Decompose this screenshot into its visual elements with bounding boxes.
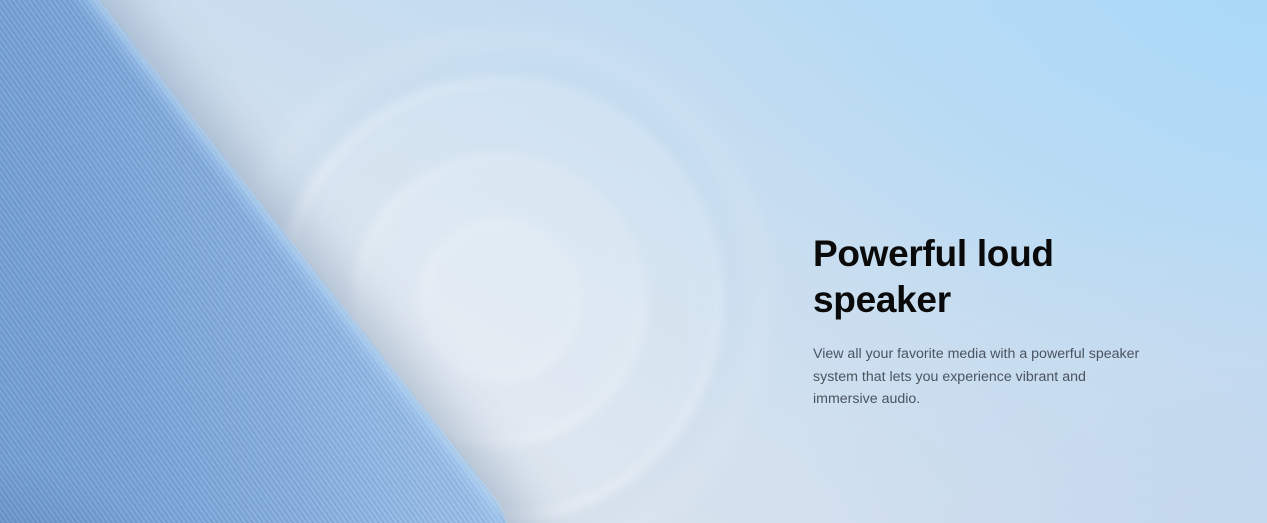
feature-description: View all your favorite media with a powe… [813, 343, 1153, 411]
feature-headline: Powerful loud speaker [813, 231, 1173, 323]
sound-ring-disc-inner [424, 224, 576, 376]
product-feature-banner: Powerful loud speaker View all your favo… [0, 0, 1267, 523]
feature-copy-block: Powerful loud speaker View all your favo… [813, 231, 1173, 411]
